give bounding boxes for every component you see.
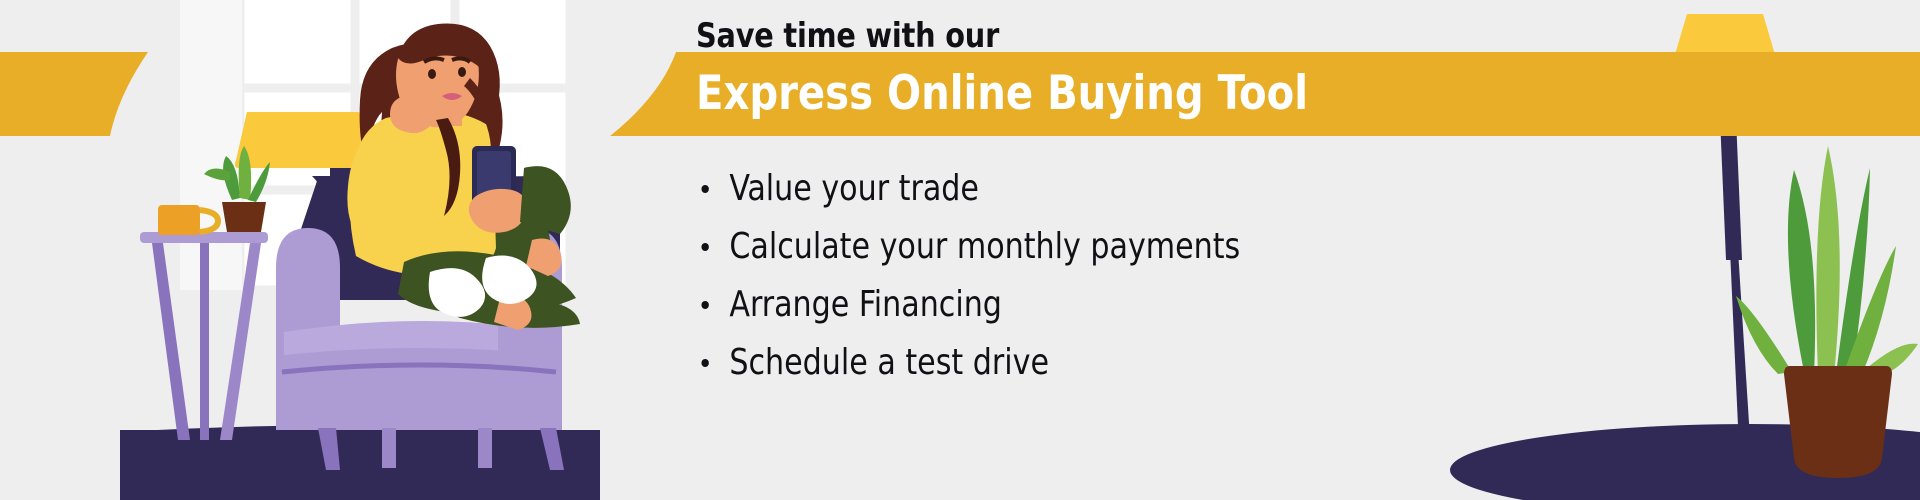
- text-content: Save time with our Express Online Buying…: [690, 0, 1390, 500]
- list-item-label: Calculate your monthly payments: [729, 226, 1240, 267]
- feature-list: Value your trade Calculate your monthly …: [694, 160, 1354, 392]
- list-item: Value your trade: [694, 160, 1308, 218]
- promo-banner: Save time with our Express Online Buying…: [0, 0, 1920, 500]
- bullet-dot-icon: [701, 243, 708, 251]
- list-item-label: Arrange Financing: [729, 284, 1002, 325]
- bullet-dot-icon: [701, 185, 708, 193]
- list-item: Arrange Financing: [694, 276, 1308, 334]
- bullet-dot-icon: [701, 301, 708, 309]
- list-item: Schedule a test drive: [694, 334, 1308, 392]
- page-title: Express Online Buying Tool: [696, 66, 1308, 121]
- bullet-dot-icon: [701, 359, 708, 367]
- list-item-label: Schedule a test drive: [729, 342, 1049, 383]
- list-item-label: Value your trade: [729, 168, 979, 209]
- ribbon-left-segment: [0, 52, 148, 136]
- list-item: Calculate your monthly payments: [694, 218, 1308, 276]
- eyebrow-text: Save time with our: [696, 16, 999, 56]
